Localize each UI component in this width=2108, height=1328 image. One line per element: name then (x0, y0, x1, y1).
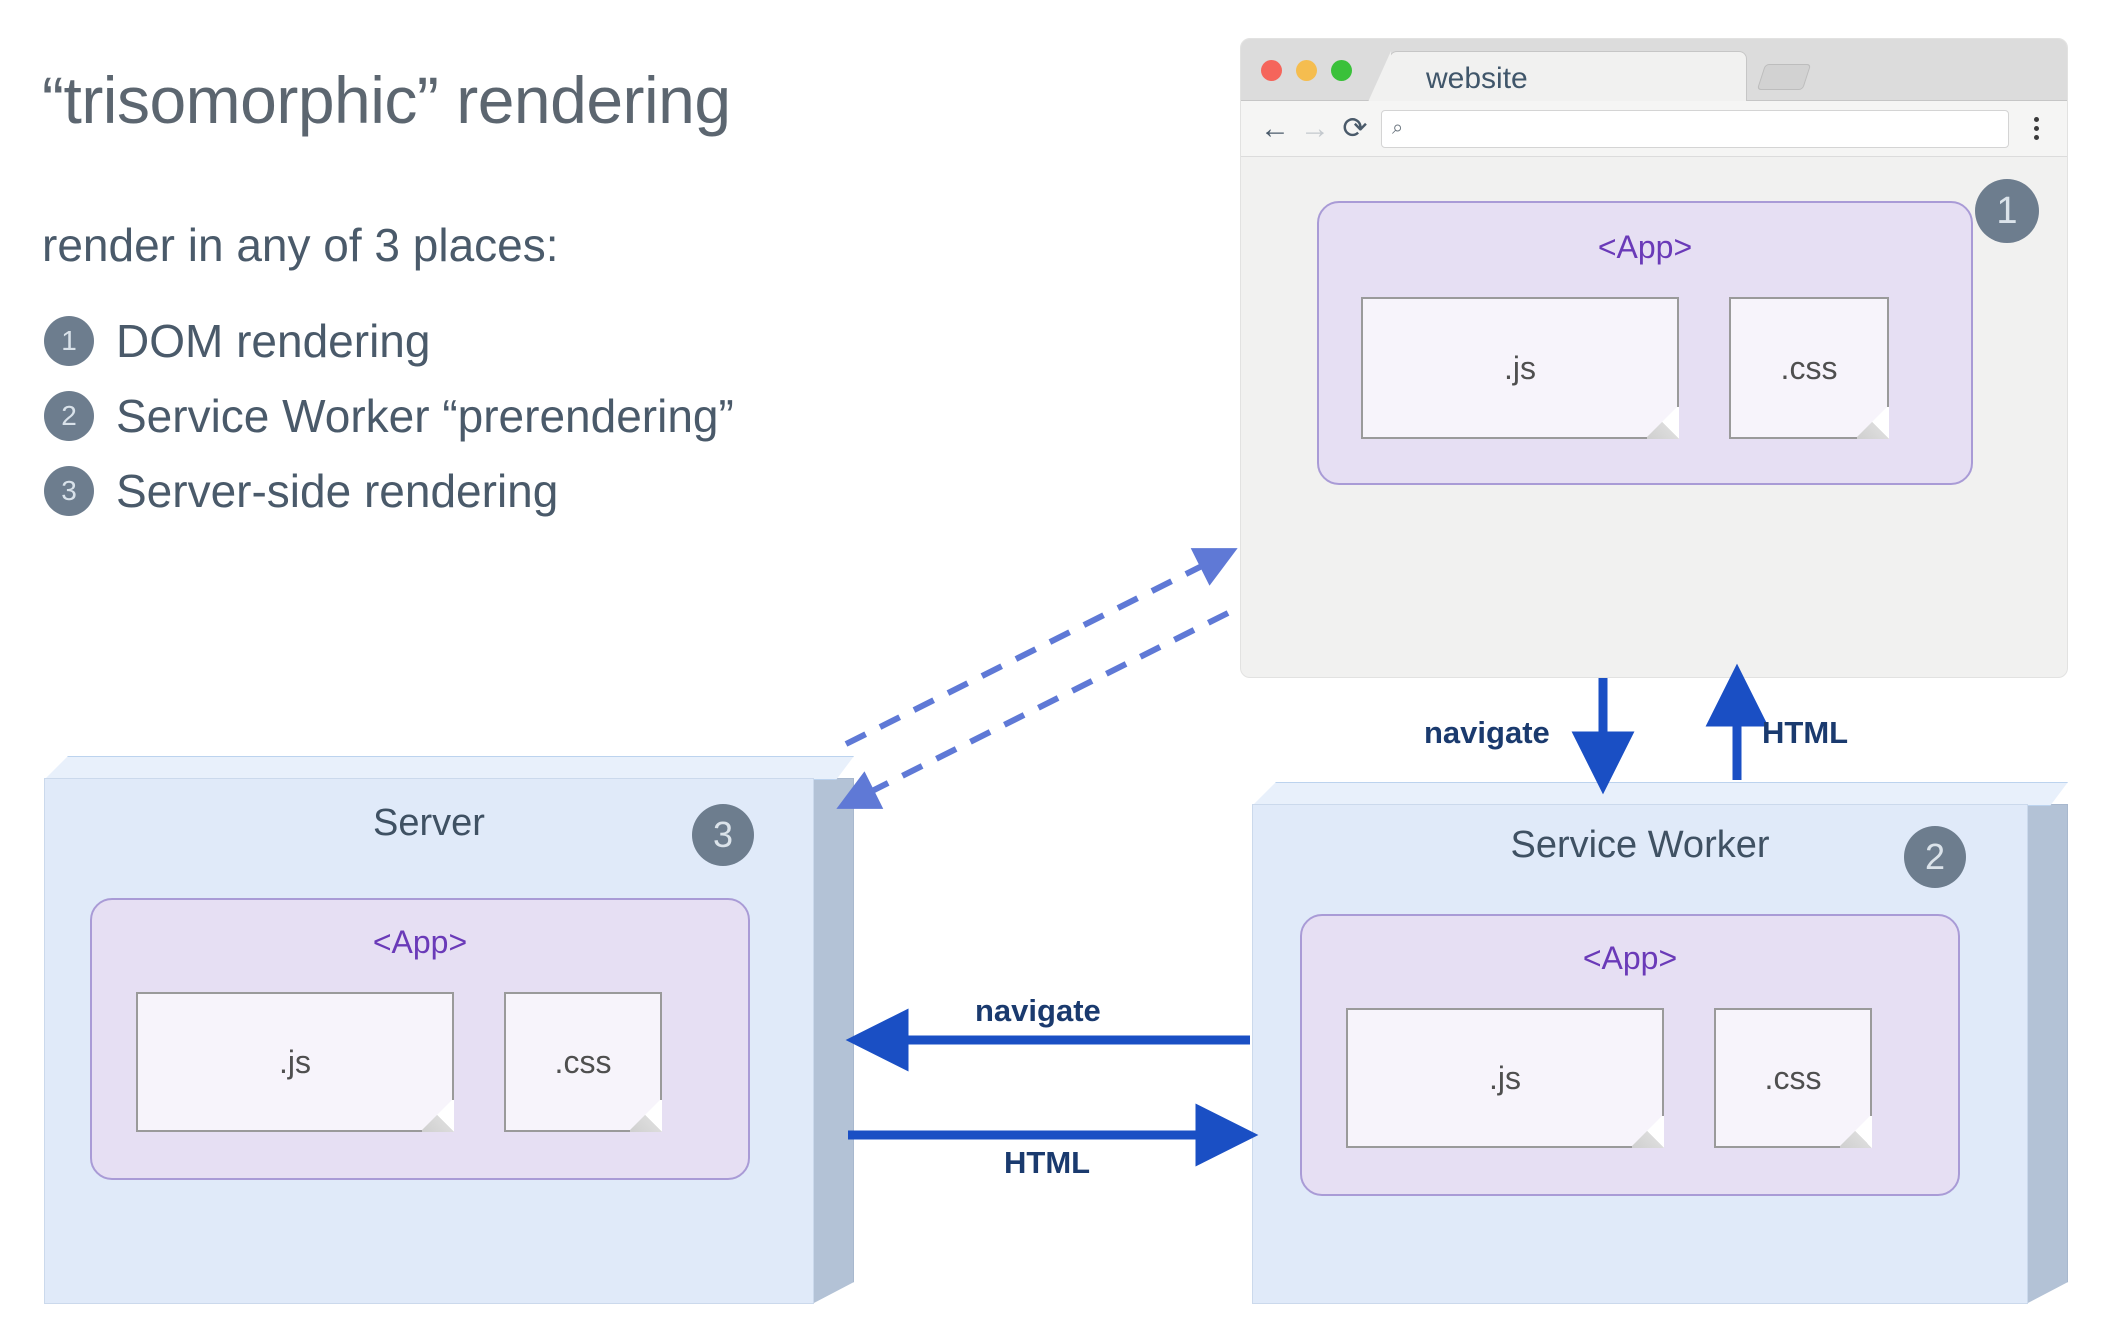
file-card-js: .js (1346, 1008, 1664, 1148)
browser-titlebar: website (1241, 39, 2067, 101)
file-card-js: .js (136, 992, 454, 1132)
server-box-top-face (44, 756, 854, 780)
browser-window: website ← → ⟳ ⌕ 1 <App> .js (1240, 38, 2068, 678)
list-item-label: Service Worker “prerendering” (116, 389, 734, 443)
page-fold-icon (1838, 1114, 1872, 1148)
page-title: “trisomorphic” rendering (42, 62, 731, 138)
list-item-label: Server-side rendering (116, 464, 558, 518)
diagram-canvas: “trisomorphic” rendering render in any o… (0, 0, 2108, 1328)
reload-icon[interactable]: ⟳ (1335, 109, 1375, 149)
url-input[interactable]: ⌕ (1381, 110, 2009, 148)
app-container: <App> .js .css (1317, 201, 1973, 485)
file-card-label: .js (1504, 350, 1536, 387)
overflow-menu-icon[interactable] (2019, 117, 2053, 140)
close-button-icon[interactable] (1261, 60, 1282, 81)
service-worker-box-side-face (2026, 804, 2068, 1304)
list-number-badge: 3 (44, 466, 94, 516)
minimize-button-icon[interactable] (1296, 60, 1317, 81)
back-icon[interactable]: ← (1255, 109, 1295, 149)
dashed-arrow-server-to-browser-a (846, 553, 1228, 744)
file-card-css: .css (1729, 297, 1889, 439)
file-card-css: .css (504, 992, 662, 1132)
page-fold-icon (628, 1098, 662, 1132)
server-badge: 3 (692, 804, 754, 866)
arrow-label-navigate-horizontal: navigate (975, 993, 1101, 1029)
browser-viewport: 1 <App> .js .css (1241, 157, 2067, 676)
file-card-label: .css (1781, 350, 1838, 387)
file-card-js: .js (1361, 297, 1679, 439)
maximize-button-icon[interactable] (1331, 60, 1352, 81)
dashed-arrow-browser-to-server-b (846, 613, 1228, 804)
page-fold-icon (1630, 1114, 1664, 1148)
traffic-lights (1261, 60, 1352, 81)
page-fold-icon (1645, 405, 1679, 439)
browser-toolbar: ← → ⟳ ⌕ (1241, 101, 2067, 157)
server-app-container: <App> .js .css (90, 898, 750, 1180)
forward-icon[interactable]: → (1295, 109, 1335, 149)
service-worker-box: Service Worker 2 <App> .js .css (1252, 782, 2068, 1304)
app-label: <App> (92, 924, 748, 961)
list-item-label: DOM rendering (116, 314, 430, 368)
menu-dot (2034, 117, 2039, 122)
list-number-badge: 2 (44, 391, 94, 441)
page-fold-icon (1855, 405, 1889, 439)
places-list: 1 DOM rendering 2 Service Worker “preren… (44, 310, 734, 522)
app-label: <App> (1302, 940, 1958, 977)
list-item: 1 DOM rendering (44, 310, 734, 372)
file-card-label: .css (1765, 1060, 1822, 1097)
arrow-label-html-horizontal: HTML (1004, 1145, 1090, 1181)
file-card-label: .js (279, 1044, 311, 1081)
menu-dot (2034, 135, 2039, 140)
service-worker-box-top-face (1252, 782, 2068, 806)
service-worker-badge: 2 (1904, 826, 1966, 888)
server-box-side-face (812, 778, 854, 1304)
page-fold-icon (420, 1098, 454, 1132)
list-number-badge: 1 (44, 316, 94, 366)
list-item: 3 Server-side rendering (44, 460, 734, 522)
menu-dot (2034, 126, 2039, 131)
status-badge: 1 (1975, 179, 2039, 243)
file-card-label: .js (1489, 1060, 1521, 1097)
app-label: <App> (1319, 229, 1971, 266)
service-worker-app-container: <App> .js .css (1300, 914, 1960, 1196)
browser-tab[interactable]: website (1389, 51, 1747, 101)
list-item: 2 Service Worker “prerendering” (44, 385, 734, 447)
arrow-label-navigate-vertical: navigate (1424, 715, 1550, 751)
browser-tab-label: website (1426, 62, 1528, 96)
server-box: Server 3 <App> .js .css (44, 756, 854, 1304)
file-card-css: .css (1714, 1008, 1872, 1148)
new-tab-icon[interactable] (1757, 64, 1811, 90)
arrow-label-html-vertical: HTML (1762, 715, 1848, 751)
file-card-label: .css (555, 1044, 612, 1081)
page-subtitle: render in any of 3 places: (42, 218, 559, 272)
search-icon: ⌕ (1392, 117, 1403, 140)
